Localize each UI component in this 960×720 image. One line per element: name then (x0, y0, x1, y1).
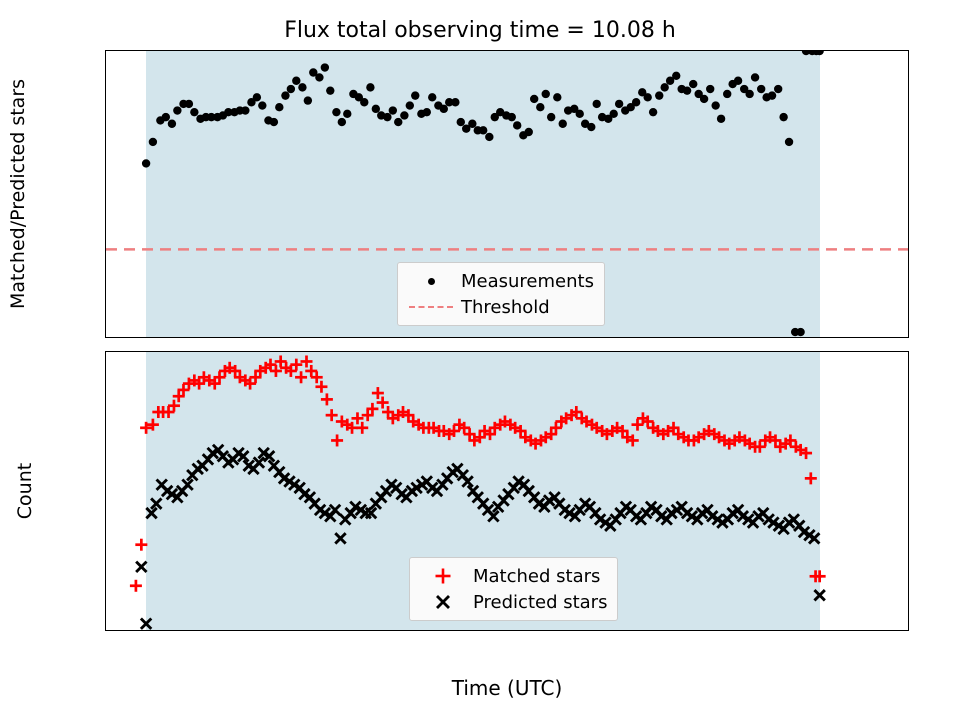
plus-marker-icon (417, 565, 469, 587)
x-tick (869, 337, 871, 338)
x-tick (597, 337, 599, 338)
x-tick (733, 630, 735, 631)
cross-marker-icon (417, 591, 469, 613)
threshold-line-icon (405, 306, 457, 308)
ratio-legend: Measurements Threshold (397, 262, 605, 326)
legend-label-threshold: Threshold (457, 297, 550, 318)
x-tick (121, 630, 123, 631)
x-tick (461, 337, 463, 338)
x-tick (189, 630, 191, 631)
figure-title: Flux total observing time = 10.08 h (0, 18, 960, 43)
y-tick (105, 403, 106, 405)
legend-label-matched-stars: Matched stars (469, 566, 600, 587)
x-tick (325, 337, 327, 338)
x-tick (801, 337, 803, 338)
figure-container: Flux total observing time = 10.08 h 0.00… (0, 0, 960, 720)
counts-axis-label: Count (14, 463, 36, 519)
counts-legend: Matched stars Predicted stars (409, 557, 618, 621)
x-tick (393, 630, 395, 631)
x-tick (325, 630, 327, 631)
x-tick (529, 630, 531, 631)
legend-label-predicted-stars: Predicted stars (469, 592, 607, 613)
x-tick (257, 630, 259, 631)
x-tick (869, 630, 871, 631)
x-tick (393, 337, 395, 338)
x-tick (529, 337, 531, 338)
y-tick (105, 592, 106, 594)
x-tick (121, 337, 123, 338)
measurements-marker-icon (405, 278, 457, 285)
y-tick (105, 249, 106, 251)
legend-item-threshold: Threshold (405, 294, 594, 320)
legend-label-measurements: Measurements (457, 271, 594, 292)
x-tick (461, 630, 463, 631)
legend-item-matched-stars: Matched stars (417, 563, 607, 589)
x-tick (597, 630, 599, 631)
x-tick (189, 337, 191, 338)
y-tick (105, 167, 106, 169)
y-tick (105, 332, 106, 334)
x-axis-label: Time (UTC) (452, 676, 563, 700)
x-tick (665, 630, 667, 631)
y-tick (105, 529, 106, 531)
x-tick (801, 630, 803, 631)
legend-item-predicted-stars: Predicted stars (417, 589, 607, 615)
y-tick (105, 466, 106, 468)
x-tick (257, 337, 259, 338)
ratio-axis-label: Matched/Predicted stars (7, 79, 29, 309)
y-tick (105, 84, 106, 86)
x-tick (665, 337, 667, 338)
legend-item-measurements: Measurements (405, 268, 594, 294)
x-tick (733, 337, 735, 338)
